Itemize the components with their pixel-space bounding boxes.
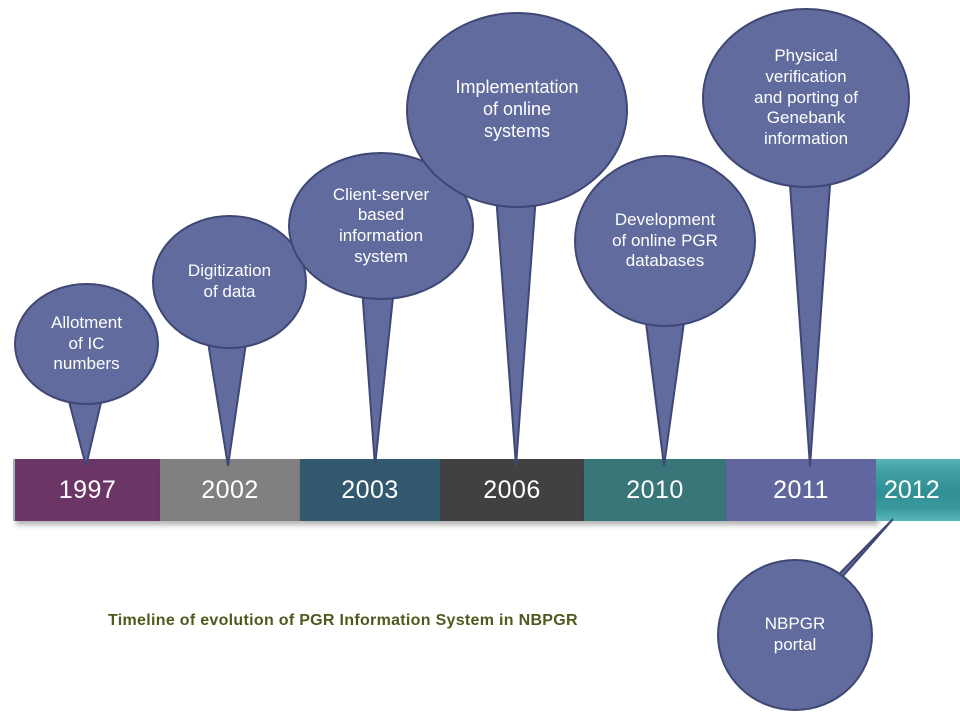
timeline-year-2003: 2003	[341, 476, 399, 505]
timeline-segment-2010[interactable]: 2010	[584, 459, 726, 521]
timeline-segment-2011[interactable]: 2011	[726, 459, 876, 521]
timeline-year-2010: 2010	[626, 476, 684, 505]
callout-text-2003: Client-server based information system	[333, 185, 429, 268]
tail-2003	[362, 288, 394, 466]
timeline-segment-2002[interactable]: 2002	[160, 459, 300, 521]
timeline-year-1997: 1997	[59, 476, 117, 505]
diagram-caption: Timeline of evolution of PGR Information…	[108, 612, 578, 630]
callout-bubble-2012[interactable]: NBPGR portal	[717, 559, 873, 711]
callout-text-2010: Development of online PGR databases	[612, 210, 718, 272]
callout-text-2006: Implementation of online systems	[455, 77, 578, 143]
timeline-year-2006: 2006	[483, 476, 541, 505]
timeline-diagram: Allotment of IC numbers Digitization of …	[0, 0, 960, 720]
timeline-year-2011: 2011	[773, 476, 829, 505]
callout-text-2002: Digitization of data	[188, 261, 271, 302]
tail-2002	[207, 336, 247, 466]
timeline-bar: 1997 2002 2003 2006 2010 2011 2012	[13, 459, 945, 527]
timeline-segment-2003[interactable]: 2003	[300, 459, 440, 521]
tail-2006	[496, 195, 536, 466]
timeline-year-2002: 2002	[201, 476, 259, 505]
timeline-segment-1997[interactable]: 1997	[13, 459, 160, 521]
callout-bubble-1997[interactable]: Allotment of IC numbers	[14, 283, 159, 405]
tail-2010	[645, 315, 685, 466]
timeline-year-2012: 2012	[884, 476, 940, 505]
tail-2011	[790, 185, 830, 466]
timeline-segment-2012-arrow[interactable]: 2012	[876, 459, 960, 521]
timeline-segment-2006[interactable]: 2006	[440, 459, 584, 521]
callout-bubble-2010[interactable]: Development of online PGR databases	[574, 155, 756, 327]
callout-text-2011: Physical verification and porting of Gen…	[754, 46, 858, 150]
callout-bubble-2006[interactable]: Implementation of online systems	[406, 12, 628, 208]
callout-bubble-2011[interactable]: Physical verification and porting of Gen…	[702, 8, 910, 188]
callout-bubble-2002[interactable]: Digitization of data	[152, 215, 307, 349]
callout-text-1997: Allotment of IC numbers	[51, 313, 122, 375]
callout-text-2012: NBPGR portal	[765, 614, 825, 655]
